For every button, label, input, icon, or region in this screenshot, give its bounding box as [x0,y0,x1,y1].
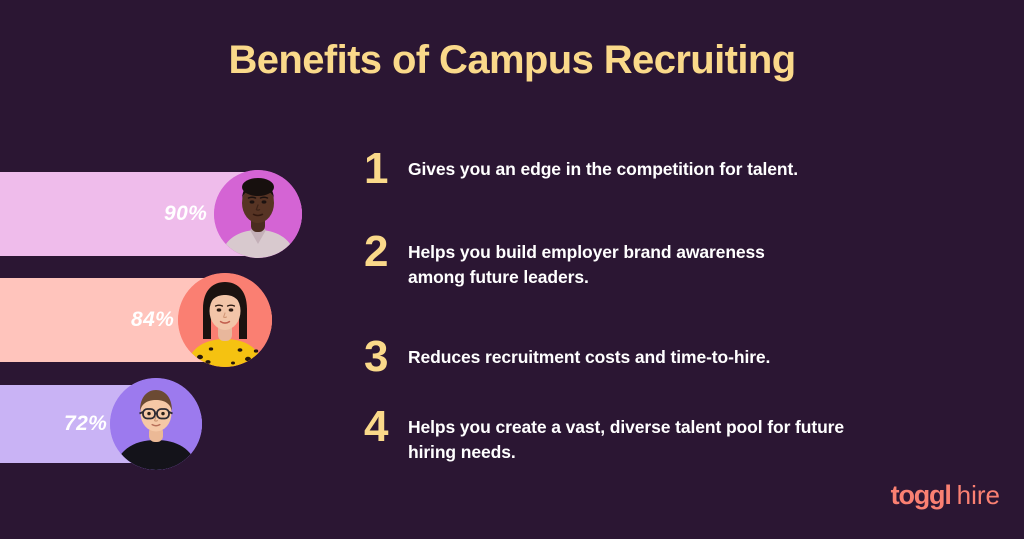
benefit-text-4: Helps you create a vast, diverse talent … [408,406,850,465]
bar-row-1: 90% [0,172,302,256]
bar-chart: 90% [0,0,340,539]
benefit-text-1: Gives you an edge in the competition for… [408,148,798,182]
infographic-canvas: Benefits of Campus Recruiting 90% [0,0,1024,539]
avatar-person-1-image [214,170,302,258]
bar-row-2: 84% [0,278,272,362]
brand-logo: toggl hire [891,480,1000,511]
benefit-item-1: 1 Gives you an edge in the competition f… [364,148,798,190]
logo-hire-wordmark: hire [957,480,1000,511]
avatar-person-1 [214,170,302,258]
avatar-person-2 [178,273,272,367]
benefit-number-4: 4 [364,406,408,448]
benefit-number-3: 3 [364,336,408,378]
benefit-number-1: 1 [364,148,408,190]
benefit-item-3: 3 Reduces recruitment costs and time-to-… [364,336,770,378]
avatar-person-3 [110,378,202,470]
avatar-person-2-image [178,273,272,367]
bar-value-label-3: 72% [64,412,107,436]
avatar-person-3-image [110,378,202,470]
bar-value-label-1: 90% [164,202,207,226]
benefit-text-3: Reduces recruitment costs and time-to-hi… [408,336,770,370]
benefit-item-4: 4 Helps you create a vast, diverse talen… [364,406,850,465]
benefit-number-2: 2 [364,231,408,273]
bar-value-label-2: 84% [131,308,174,332]
benefit-item-2: 2 Helps you build employer brand awarene… [364,231,818,290]
logo-toggl-wordmark: toggl [891,480,951,511]
bar-row-3: 72% [0,385,202,463]
benefit-text-2: Helps you build employer brand awareness… [408,231,818,290]
